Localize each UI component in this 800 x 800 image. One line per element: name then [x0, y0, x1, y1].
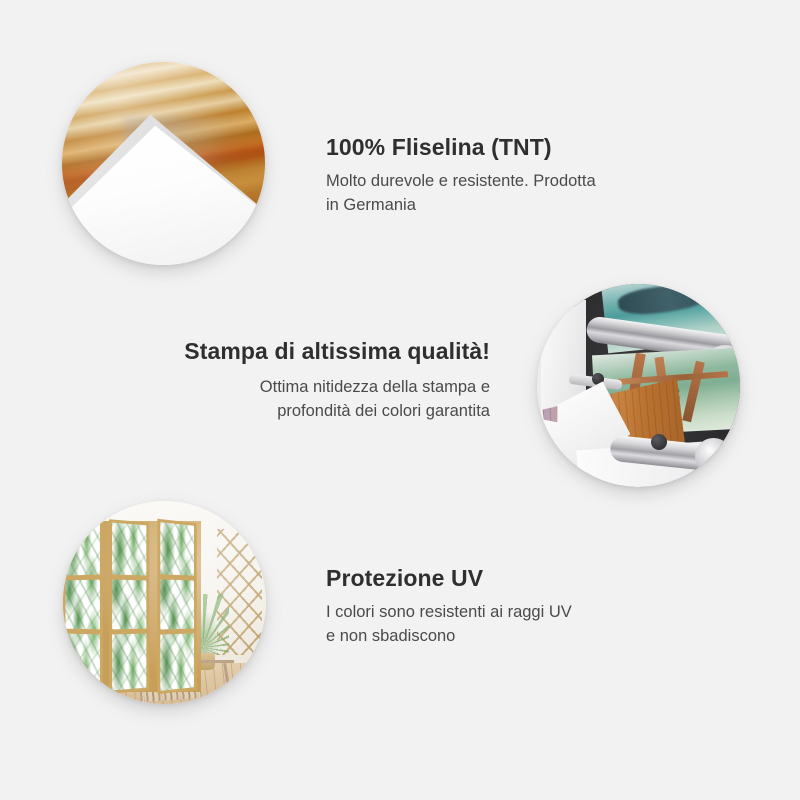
feature-description-material: Molto durevole e resistente. Prodotta in… — [326, 170, 726, 218]
feature-description-uv-protection: I colori sono resistenti ai raggi UV e n… — [326, 601, 726, 649]
feature-description-line-1: Molto durevole e resistente. Prodotta — [326, 172, 596, 190]
printer-illustration — [537, 284, 740, 487]
feature-description-line-1: I colori sono resistenti ai raggi UV — [326, 603, 572, 621]
printer-roller-cap-bottom — [695, 438, 732, 475]
surface-gloss — [62, 62, 265, 265]
feature-description-line-2: in Germania — [326, 196, 416, 214]
feature-text-print-quality: Stampa di altissima qualità! Ottima niti… — [150, 338, 490, 423]
large-format-printer-photo — [537, 284, 740, 487]
tropical-room-divider-photo — [63, 501, 266, 704]
feature-description-line-1: Ottima nitidezza della stampa e — [260, 378, 490, 396]
feature-headline-material: 100% Fliselina (TNT) — [326, 134, 726, 162]
feature-panel: 100% Fliselina (TNT) Molto durevole e re… — [0, 0, 800, 800]
feature-text-uv-protection: Protezione UV I colori sono resistenti a… — [326, 565, 726, 648]
feature-description-line-2: e non sbadiscono — [326, 627, 455, 645]
divider-panel-center — [109, 520, 149, 694]
feature-description-line-2: profondità dei colori garantita — [277, 402, 490, 420]
wallpaper-roll-illustration — [62, 62, 265, 265]
tropical-room-illustration — [63, 501, 266, 704]
feature-description-print-quality: Ottima nitidezza della stampa e profondi… — [150, 376, 490, 424]
divider-panel-left — [63, 520, 103, 693]
feature-headline-print-quality: Stampa di altissima qualità! — [150, 338, 490, 366]
feature-text-material: 100% Fliselina (TNT) Molto durevole e re… — [326, 134, 726, 217]
wallpaper-roll-peeling-photo — [62, 62, 265, 265]
tropical-room-divider — [63, 521, 201, 692]
divider-panel-right — [157, 519, 197, 694]
feature-headline-uv-protection: Protezione UV — [326, 565, 726, 593]
